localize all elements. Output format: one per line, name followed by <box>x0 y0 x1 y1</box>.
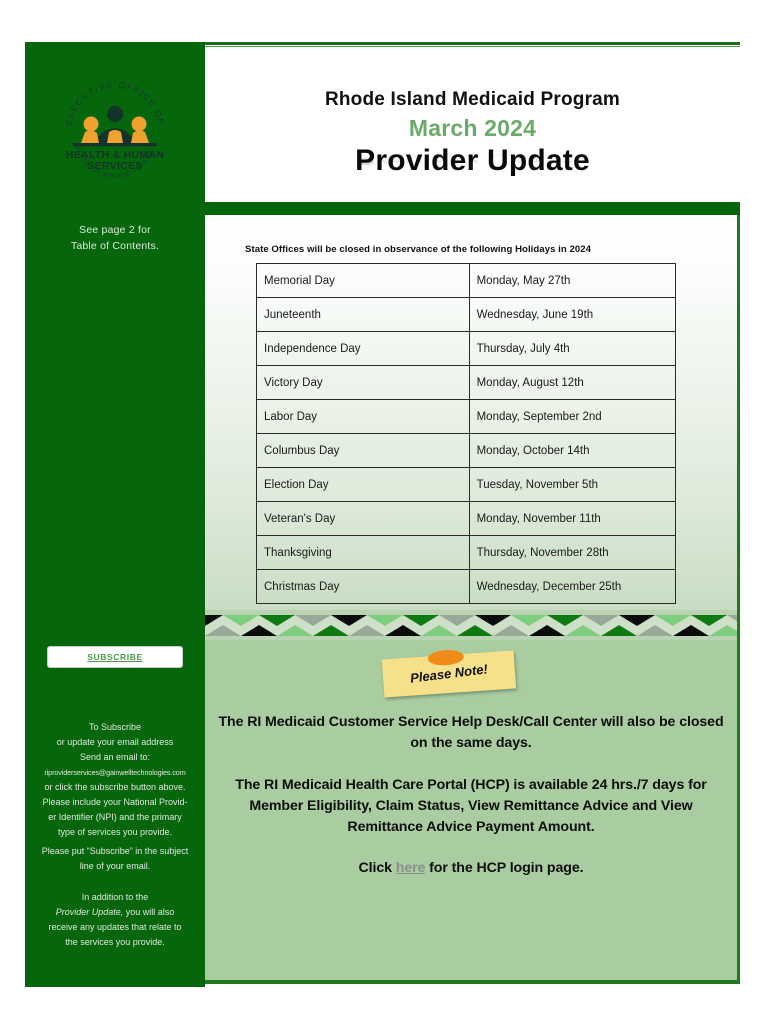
notice-paragraph-1: The RI Medicaid Customer Service Help De… <box>213 712 729 754</box>
additional-updates-note: In addition to the Provider Update, you … <box>31 890 199 950</box>
triangle-divider-band <box>205 610 740 640</box>
svg-text:SERVICES: SERVICES <box>87 160 142 172</box>
holiday-name: Columbus Day <box>257 434 470 468</box>
triangle-up <box>529 625 565 636</box>
left-sidebar: EXECUTIVE OFFICE OF STATE OF RHODE ISLAN… <box>25 42 205 987</box>
provider-update-italic: Provider Update, <box>56 907 124 917</box>
table-of-contents-note: See page 2 for Table of Contents. <box>33 222 197 254</box>
eohhs-logo: EXECUTIVE OFFICE OF STATE OF RHODE ISLAN… <box>25 70 205 182</box>
hcp-link-suffix: for the HCP login page. <box>425 860 583 876</box>
holiday-date: Tuesday, November 5th <box>469 468 675 502</box>
subscribe-line-2: or update your email address <box>31 735 199 750</box>
triangle-up <box>349 625 385 636</box>
triangle-up <box>241 625 277 636</box>
table-row: Election DayTuesday, November 5th <box>257 468 676 502</box>
subject-line-1: Please put “Subscribe” in the subject <box>31 844 199 859</box>
holiday-date: Wednesday, June 19th <box>469 298 675 332</box>
holiday-name: Victory Day <box>257 366 470 400</box>
holiday-date: Wednesday, December 25th <box>469 570 675 604</box>
triangle-up <box>313 625 349 636</box>
addition-line-2: Provider Update, you will also <box>31 905 199 920</box>
holiday-name: Veteran's Day <box>257 502 470 536</box>
subscribe-button-label: SUBSCRIBE <box>87 652 142 662</box>
table-row: Veteran's DayMonday, November 11th <box>257 502 676 536</box>
addition-line-2-rest: you will also <box>123 907 174 917</box>
masthead-program-title: Rhode Island Medicaid Program <box>205 89 740 111</box>
holiday-name: Memorial Day <box>257 264 470 298</box>
holiday-date: Monday, August 12th <box>469 366 675 400</box>
addition-line-3: receive any updates that relate to <box>31 920 199 935</box>
table-row: Christmas DayWednesday, December 25th <box>257 570 676 604</box>
notice-paragraph-3: Click here for the HCP login page. <box>213 858 729 879</box>
notice-panel-footer-rule <box>205 980 740 984</box>
triangle-up <box>277 625 313 636</box>
table-row: Labor DayMonday, September 2nd <box>257 400 676 434</box>
triangle-up <box>637 625 673 636</box>
subscribe-line-4: or click the subscribe button above. <box>31 780 199 795</box>
table-row: Victory DayMonday, August 12th <box>257 366 676 400</box>
subject-line-instructions: Please put “Subscribe” in the subject li… <box>31 844 199 874</box>
holiday-name: Thanksgiving <box>257 536 470 570</box>
holiday-date: Monday, October 14th <box>469 434 675 468</box>
addition-line-4: the services you provide. <box>31 935 199 950</box>
masthead-publication-title-text: Provider Update <box>355 144 590 177</box>
notice-panel: Please Note! The RI Medicaid Customer Se… <box>205 640 740 980</box>
triangle-up <box>421 625 457 636</box>
holiday-name: Christmas Day <box>257 570 470 604</box>
header-top-rule <box>205 42 740 45</box>
holiday-date: Monday, September 2nd <box>469 400 675 434</box>
holiday-date: Monday, November 11th <box>469 502 675 536</box>
masthead-publication-title: Provider Update Provider Update <box>205 144 740 178</box>
holiday-date: Thursday, November 28th <box>469 536 675 570</box>
holiday-table: Memorial DayMonday, May 27th JuneteenthW… <box>256 263 676 604</box>
triangle-up <box>673 625 709 636</box>
holiday-name: Election Day <box>257 468 470 502</box>
triangle-up <box>565 625 601 636</box>
hcp-link-prefix: Click <box>359 860 396 876</box>
table-row: Independence DayThursday, July 4th <box>257 332 676 366</box>
subject-line-2: line of your email. <box>31 859 199 874</box>
hcp-login-link[interactable]: here <box>396 860 426 876</box>
table-row: JuneteenthWednesday, June 19th <box>257 298 676 332</box>
triangle-up <box>493 625 529 636</box>
subscribe-button[interactable]: SUBSCRIBE <box>47 646 183 668</box>
toc-line-1: See page 2 for <box>33 222 197 238</box>
table-row: ThanksgivingThursday, November 28th <box>257 536 676 570</box>
masthead: Rhode Island Medicaid Program March 2024… <box>205 47 740 202</box>
toc-line-2: Table of Contents. <box>33 238 197 254</box>
holiday-table-body: Memorial DayMonday, May 27th JuneteenthW… <box>257 264 676 604</box>
holiday-date: Monday, May 27th <box>469 264 675 298</box>
masthead-issue-date: March 2024 <box>205 115 740 142</box>
table-row: Memorial DayMonday, May 27th <box>257 264 676 298</box>
subscribe-instructions: To Subscribe or update your email addres… <box>31 720 199 840</box>
addition-line-1: In addition to the <box>31 890 199 905</box>
triangle-up <box>205 625 241 636</box>
table-row: Columbus DayMonday, October 14th <box>257 434 676 468</box>
please-note-sticky: Please Note! <box>382 650 516 697</box>
triangle-up <box>457 625 493 636</box>
triangle-up <box>601 625 637 636</box>
holiday-name: Independence Day <box>257 332 470 366</box>
triangle-up <box>385 625 421 636</box>
masthead-green-bar <box>205 202 740 215</box>
holiday-table-caption: State Offices will be closed in observan… <box>245 244 705 255</box>
subscribe-line-5: Please include your National Provid- <box>31 795 199 810</box>
holiday-table-panel: State Offices will be closed in observan… <box>205 215 740 620</box>
subscribe-line-3: Send an email to: <box>31 750 199 765</box>
notice-paragraph-2: The RI Medicaid Health Care Portal (HCP)… <box>213 775 729 838</box>
holiday-date: Thursday, July 4th <box>469 332 675 366</box>
subscribe-line-7: type of services you provide. <box>31 825 199 840</box>
subscribe-line-6: er Identifier (NPI) and the primary <box>31 810 199 825</box>
holiday-name: Labor Day <box>257 400 470 434</box>
subscribe-line-1: To Subscribe <box>31 720 199 735</box>
eohhs-logo-svg: EXECUTIVE OFFICE OF STATE OF RHODE ISLAN… <box>25 70 205 182</box>
holiday-name: Juneteenth <box>257 298 470 332</box>
triangle-up <box>709 625 740 636</box>
subscribe-email-address[interactable]: riproviderservices@gainwelltechnologies.… <box>31 765 199 780</box>
